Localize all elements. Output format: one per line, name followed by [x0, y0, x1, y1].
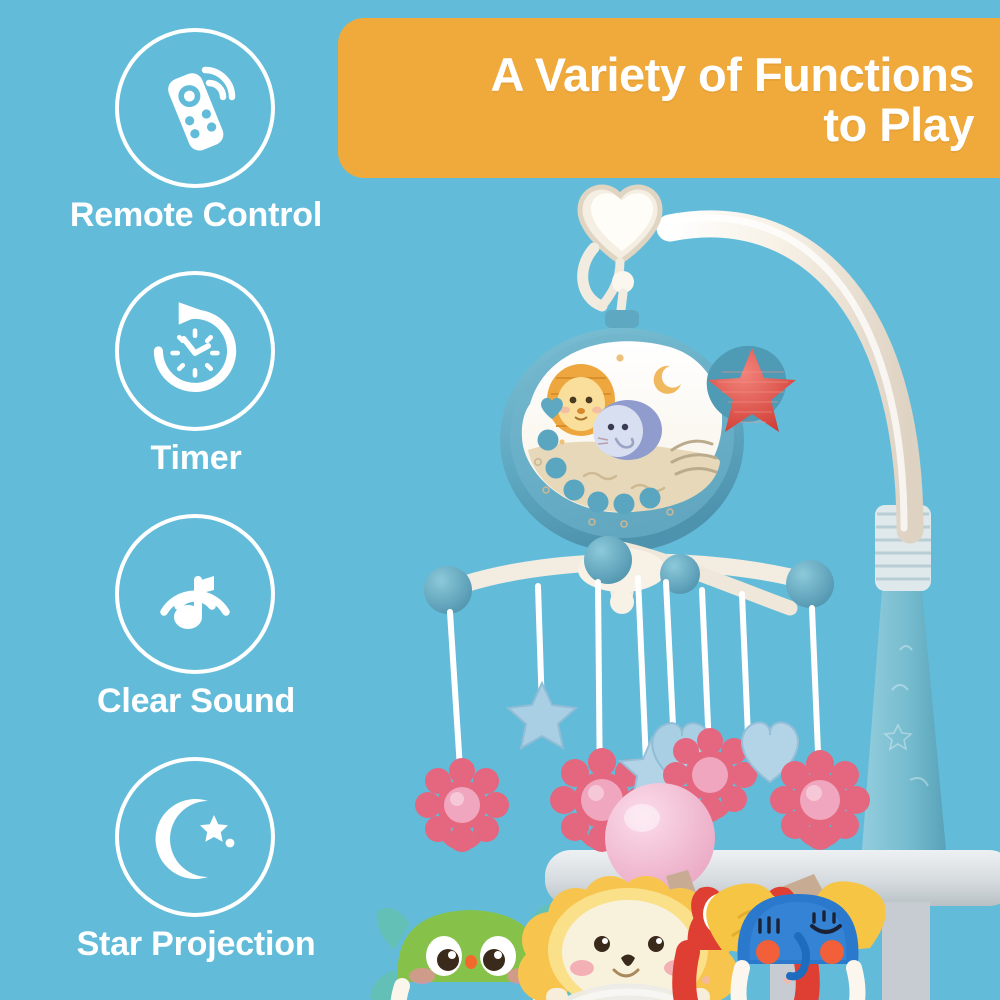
feature-remote-control: Remote Control	[0, 28, 392, 271]
remote-control-icon	[135, 48, 255, 168]
music-note-sound-icon	[135, 534, 255, 654]
moon-star-icon	[135, 777, 255, 897]
promo-image: A Variety of Functions to Play	[0, 0, 1000, 1000]
arm-end-ball	[786, 560, 834, 608]
feature-label: Clear Sound	[0, 682, 392, 721]
feature-label: Star Projection	[0, 925, 392, 964]
feature-star-projection: Star Projection	[0, 757, 392, 1000]
stand-pole	[862, 505, 946, 850]
feature-icon-ring	[115, 757, 275, 917]
product-illustration	[370, 150, 1000, 1000]
music-box	[500, 310, 744, 566]
feature-timer: Timer	[0, 271, 392, 514]
baby-crib-mobile-graphic	[370, 150, 1000, 1000]
banner-title-line-2: to Play	[823, 100, 974, 150]
feature-clear-sound: Clear Sound	[0, 514, 392, 757]
feature-icon-ring	[115, 271, 275, 431]
arm-end-ball	[584, 536, 632, 584]
heart-clip	[580, 187, 660, 318]
timer-clock-icon	[134, 290, 256, 412]
arm-end-ball	[424, 566, 472, 614]
flower-ornament	[415, 758, 509, 852]
feature-icon-ring	[115, 514, 275, 674]
star-ornament	[508, 683, 576, 748]
feature-label: Remote Control	[0, 196, 392, 235]
banner-title-line-1: A Variety of Functions	[491, 50, 974, 100]
feature-icon-ring	[115, 28, 275, 188]
feature-list: Remote Control	[0, 28, 392, 1000]
feature-label: Timer	[0, 439, 392, 478]
pink-ball-ornament	[605, 783, 715, 893]
